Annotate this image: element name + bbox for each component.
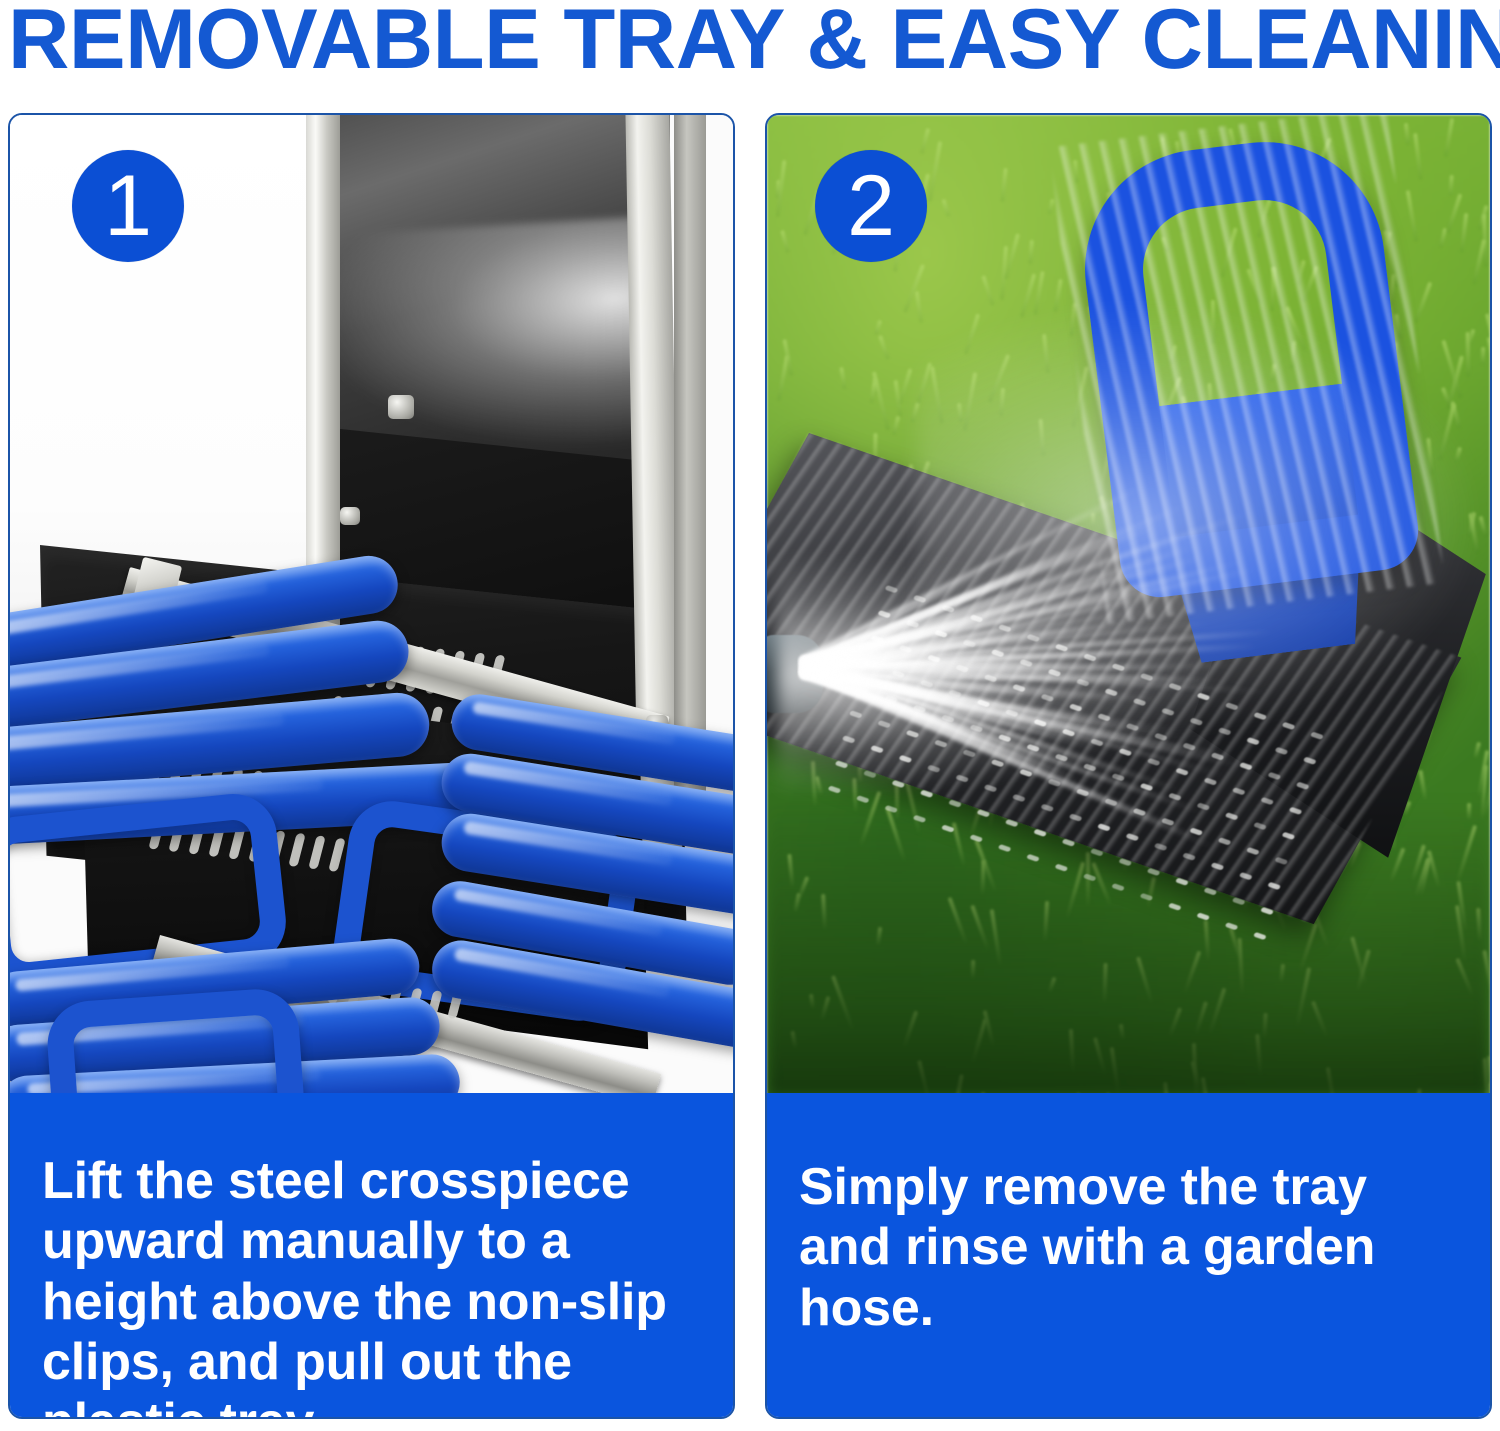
handle-loop [1071, 128, 1422, 601]
infographic-root: REMOVABLE TRAY & EASY CLEANING [0, 0, 1500, 1431]
stainless-rail-left [306, 115, 340, 629]
bolt-icon [340, 507, 360, 525]
step-badge-2: 2 [815, 150, 927, 262]
step-1-photo: 1 [10, 115, 733, 1097]
step-panel-1: 1 Lift the steel crosspiece upward manua… [8, 113, 735, 1419]
grill-illustration [10, 115, 733, 1097]
bolt-icon [388, 395, 414, 419]
step-1-caption: Lift the steel crosspiece upward manuall… [8, 1093, 735, 1419]
step-2-photo: 2 [767, 115, 1490, 1097]
blue-handle-loop [45, 986, 308, 1097]
step-badge-1: 1 [72, 150, 184, 262]
page-title: REMOVABLE TRAY & EASY CLEANING [8, 0, 1500, 88]
step-panels: 1 Lift the steel crosspiece upward manua… [8, 113, 1492, 1419]
blue-plastic-handle [1071, 128, 1422, 601]
lawn-illustration [767, 115, 1490, 1097]
spray-glow [777, 555, 1197, 795]
step-2-caption: Simply remove the tray and rinse with a … [765, 1093, 1492, 1419]
stainless-rail-right-inner [674, 115, 706, 809]
step-panel-2: 2 Simply remove the tray and rinse with … [765, 113, 1492, 1419]
